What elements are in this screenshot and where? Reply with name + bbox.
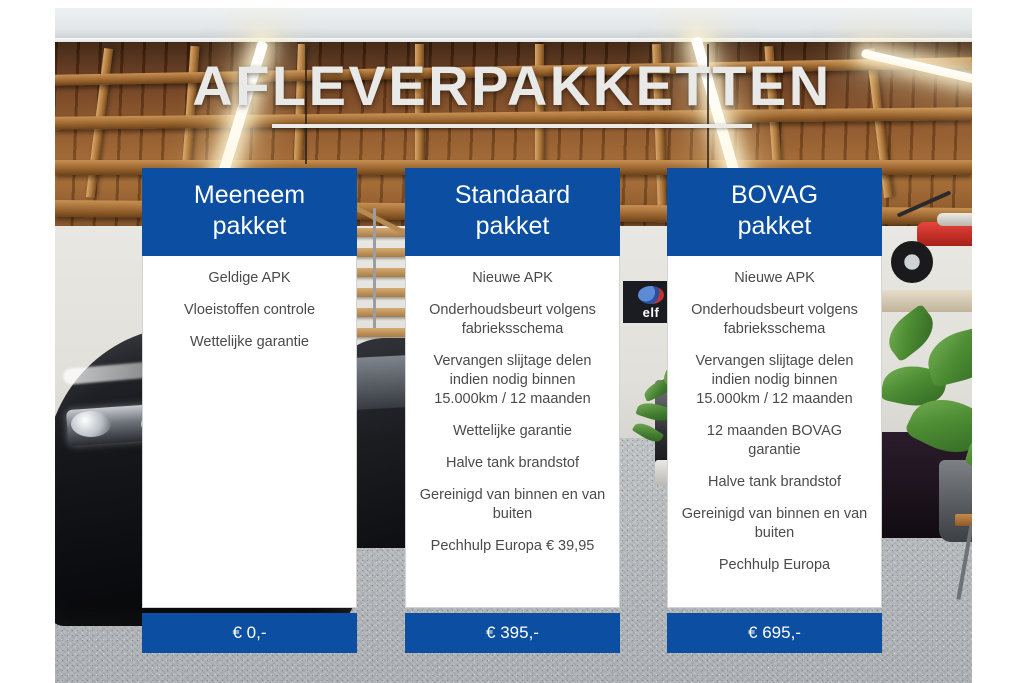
feature-item: Nieuwe APK [418, 269, 607, 288]
package-card-standaard[interactable]: Standaard pakket Nieuwe APK Onderhoudsbe… [405, 168, 620, 653]
card-title-line1: BOVAG [675, 180, 874, 211]
feature-item: Wettelijke garantie [155, 333, 344, 352]
package-cards: Meeneem pakket Geldige APK Vloeistoffen … [0, 0, 1024, 683]
feature-item: Vervangen slijtage delen indien nodig bi… [418, 352, 607, 409]
card-title-line2: pakket [675, 211, 874, 242]
card-header: Meeneem pakket [142, 168, 357, 256]
card-price[interactable]: € 395,- [405, 613, 620, 653]
card-title-line1: Meeneem [150, 180, 349, 211]
page-root: elf [0, 0, 1024, 683]
feature-item: Pechhulp Europa [680, 556, 869, 575]
feature-item: Pechhulp Europa € 39,95 [418, 537, 607, 556]
feature-item: Vloeistoffen controle [155, 301, 344, 320]
feature-item: Halve tank brandstof [680, 473, 869, 492]
feature-item: Halve tank brandstof [418, 454, 607, 473]
feature-item: Onderhoudsbeurt volgens fabrieksschema [418, 301, 607, 339]
card-title-line2: pakket [150, 211, 349, 242]
feature-item: Geldige APK [155, 269, 344, 288]
card-feature-list: Nieuwe APK Onderhoudsbeurt volgens fabri… [405, 256, 620, 608]
feature-item: Gereinigd van binnen en van buiten [680, 505, 869, 543]
feature-item: Wettelijke garantie [418, 422, 607, 441]
feature-item: Onderhoudsbeurt volgens fabrieksschema [680, 301, 869, 339]
card-price[interactable]: € 695,- [667, 613, 882, 653]
feature-item: Gereinigd van binnen en van buiten [418, 486, 607, 524]
feature-item: Vervangen slijtage delen indien nodig bi… [680, 352, 869, 409]
card-title-line1: Standaard [413, 180, 612, 211]
package-card-meeneem[interactable]: Meeneem pakket Geldige APK Vloeistoffen … [142, 168, 357, 653]
card-title-line2: pakket [413, 211, 612, 242]
feature-item: 12 maanden BOVAG garantie [680, 422, 869, 460]
feature-item: Nieuwe APK [680, 269, 869, 288]
card-header: Standaard pakket [405, 168, 620, 256]
card-feature-list: Nieuwe APK Onderhoudsbeurt volgens fabri… [667, 256, 882, 608]
card-header: BOVAG pakket [667, 168, 882, 256]
card-price[interactable]: € 0,- [142, 613, 357, 653]
card-feature-list: Geldige APK Vloeistoffen controle Wettel… [142, 256, 357, 608]
package-card-bovag[interactable]: BOVAG pakket Nieuwe APK Onderhoudsbeurt … [667, 168, 882, 653]
